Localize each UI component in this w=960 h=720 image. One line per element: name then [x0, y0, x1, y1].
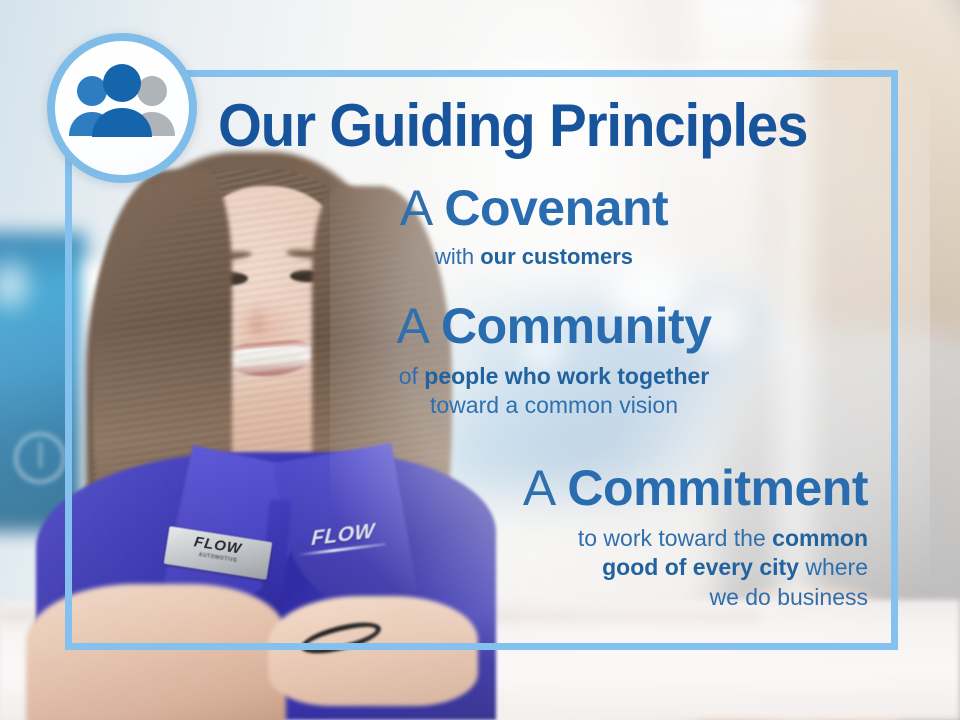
subtext-plain: to work toward the: [578, 525, 772, 551]
subtext-line: good of every city where: [268, 553, 868, 582]
principle-article: A: [400, 180, 431, 236]
subtext-emphasis: common: [772, 525, 868, 551]
subtext-plain: we do business: [709, 584, 868, 610]
principle-article: A: [523, 460, 554, 516]
subtext-plain: with: [435, 244, 480, 269]
principle-word: Covenant: [444, 180, 668, 236]
principle-subtext-covenant: with our customers: [224, 243, 844, 271]
principle-subtext-community: of people who work togethertoward a comm…: [244, 362, 864, 421]
vw-logo-blurred: [14, 432, 66, 484]
principle-heading-commitment: A Commitment: [268, 462, 868, 514]
principle-block-covenant: A Covenant with our customers: [224, 182, 844, 271]
subtext-line: to work toward the common: [268, 524, 868, 553]
principle-heading-covenant: A Covenant: [224, 182, 844, 234]
subtext-plain: of: [399, 363, 425, 389]
subtext-plain: where: [799, 554, 868, 580]
subtext-line: we do business: [268, 583, 868, 612]
principle-block-commitment: A Commitment to work toward the commongo…: [268, 462, 868, 612]
subtext-plain: toward a common vision: [430, 392, 678, 418]
principle-block-community: A Community of people who work togethert…: [244, 300, 864, 421]
principle-heading-community: A Community: [244, 300, 864, 352]
principle-article: A: [397, 298, 428, 354]
people-group-icon: [47, 33, 197, 183]
subtext-line: with our customers: [224, 243, 844, 271]
page-title: Our Guiding Principles: [218, 96, 820, 156]
principle-word: Community: [441, 298, 712, 354]
subtext-emphasis: people who work together: [424, 363, 709, 389]
woman-forearm: [26, 584, 286, 720]
principle-subtext-commitment: to work toward the commongood of every c…: [268, 524, 868, 612]
subtext-line: toward a common vision: [244, 391, 864, 420]
woman-clasped-hands: [268, 596, 478, 706]
banner-canvas: FLOW AUTOMOTIVE FLOW Our Guiding Princip…: [0, 0, 960, 720]
subtext-emphasis: good of every city: [602, 554, 799, 580]
subtext-line: of people who work together: [244, 362, 864, 391]
principle-word: Commitment: [567, 460, 868, 516]
display-highlight: [0, 250, 40, 320]
subtext-emphasis: our customers: [480, 244, 633, 269]
